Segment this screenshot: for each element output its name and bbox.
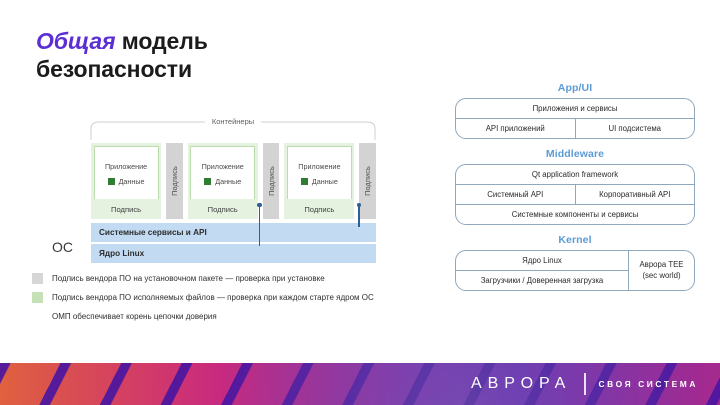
package-signature-bar: Подпись [166,143,183,219]
data-swatch-icon [301,178,308,185]
stack-box-app-ui: Приложения и сервисы API приложений UI п… [455,98,695,139]
stack-cell-qt-framework: Qt application framework [456,165,694,184]
app-data-row: Данные [204,177,241,186]
container-signature-label: Подпись [284,199,354,219]
stack-cell-ui-subsystem: UI подсистема [575,119,695,138]
stack-box-middleware: Qt application framework Системный API К… [455,164,695,225]
os-row-linux-kernel: Ядро Linux [91,244,376,263]
container-cell: Приложение Данные Подпись [91,143,161,219]
stack-row-middleware-apis: Системный API Корпоративный API [456,184,694,204]
brand-divider [584,373,585,395]
app-data-row: Данные [108,177,145,186]
containers-row: Приложение Данные Подпись Подпись Прилож… [91,143,376,219]
package-signature-label: Подпись [363,166,372,196]
data-swatch-icon [204,178,211,185]
stack-cell-enterprise-api: Корпоративный API [575,185,695,204]
stack-cell-bootloaders: Загрузчики / Доверенная загрузка [456,271,628,290]
stack-group-app-ui: App/UI Приложения и сервисы API приложен… [455,82,695,139]
connector-line-kernel [259,205,261,246]
legend-item-label: Подпись вендора ПО исполняемых файлов — … [52,293,374,302]
legend-item: ОМП обеспечивает корень цепочки доверия [32,307,452,326]
os-row-system-services: Системные сервисы и API [91,223,376,242]
containers-bracket: Контейнеры [90,118,376,140]
legend-item: Подпись вендора ПО на установочном пакет… [32,269,452,288]
brand-tagline: СВОЯ СИСТЕМА [599,379,698,389]
stack-group-kernel: Kernel Ядро Linux Загрузчики / Доверенна… [455,234,695,291]
containers-label: Контейнеры [205,117,261,126]
page-title-rest: модель [115,28,207,54]
container-cell: Приложение Данные Подпись [188,143,258,219]
app-data-label: Данные [215,177,241,186]
stack-cell-system-api: Системный API [456,185,575,204]
stack-kernel-left: Ядро Linux Загрузчики / Доверенная загру… [456,251,628,290]
app-data-label: Данные [312,177,338,186]
legend-swatch-green-icon [32,292,43,303]
stack-cell-system-components: Системные компоненты и сервисы [456,205,694,224]
page-title: Общая модель безопасности [36,27,208,83]
container-app-area: Приложение Данные [94,146,159,200]
legend: Подпись вендора ПО на установочном пакет… [32,269,452,326]
stack-heading-middleware: Middleware [455,148,695,160]
stack-row-app-ui: API приложений UI подсистема [456,118,694,138]
stack-row-middleware-components: Системные компоненты и сервисы [456,204,694,224]
stack-row-bootloaders: Загрузчики / Доверенная загрузка [456,270,628,290]
stack-cell-linux-kernel: Ядро Linux [456,251,628,270]
stack-box-kernel: Ядро Linux Загрузчики / Доверенная загру… [455,250,695,291]
container-signature-label: Подпись [91,199,161,219]
legend-item: Подпись вендора ПО исполняемых файлов — … [32,288,452,307]
aurora-tee-line2: (sec world) [642,271,680,281]
app-title: Приложение [298,162,340,171]
brand-name: АВРОРА [471,375,571,393]
package-signature-label: Подпись [170,166,179,196]
os-stack: Системные сервисы и API Ядро Linux [91,223,376,263]
app-data-label: Данные [119,177,145,186]
container-app-area: Приложение Данные [287,146,352,200]
app-title: Приложение [105,162,147,171]
legend-swatch-blank-icon [32,311,43,322]
connector-line-services [358,205,360,227]
page-title-line2: безопасности [36,56,192,82]
footer-banner: АВРОРА СВОЯ СИСТЕМА [0,363,720,405]
stack-cell-app-api: API приложений [456,119,575,138]
legend-item-label: Подпись вендора ПО на установочном пакет… [52,274,325,283]
stack-heading-kernel: Kernel [455,234,695,246]
os-label: ОС [52,239,73,255]
page-title-accent: Общая [36,28,115,54]
stack-cell-apps-services: Приложения и сервисы [456,99,694,118]
footer-brand: АВРОРА СВОЯ СИСТЕМА [471,373,698,395]
package-signature-label: Подпись [267,166,276,196]
container-signature-label: Подпись [188,199,258,219]
stack-group-middleware: Middleware Qt application framework Сист… [455,148,695,225]
container-app-area: Приложение Данные [190,146,255,200]
architecture-stack: App/UI Приложения и сервисы API приложен… [455,82,695,293]
legend-swatch-gray-icon [32,273,43,284]
aurora-tee-line1: Аврора TEE [639,260,683,270]
legend-item-label: ОМП обеспечивает корень цепочки доверия [52,312,217,321]
stack-cell-aurora-tee: Аврора TEE (sec world) [628,251,694,290]
container-cell: Приложение Данные Подпись [284,143,354,219]
package-signature-bar: Подпись [263,143,280,219]
data-swatch-icon [108,178,115,185]
package-signature-bar: Подпись [359,143,376,219]
app-data-row: Данные [301,177,338,186]
stack-heading-app-ui: App/UI [455,82,695,94]
app-title: Приложение [202,162,244,171]
